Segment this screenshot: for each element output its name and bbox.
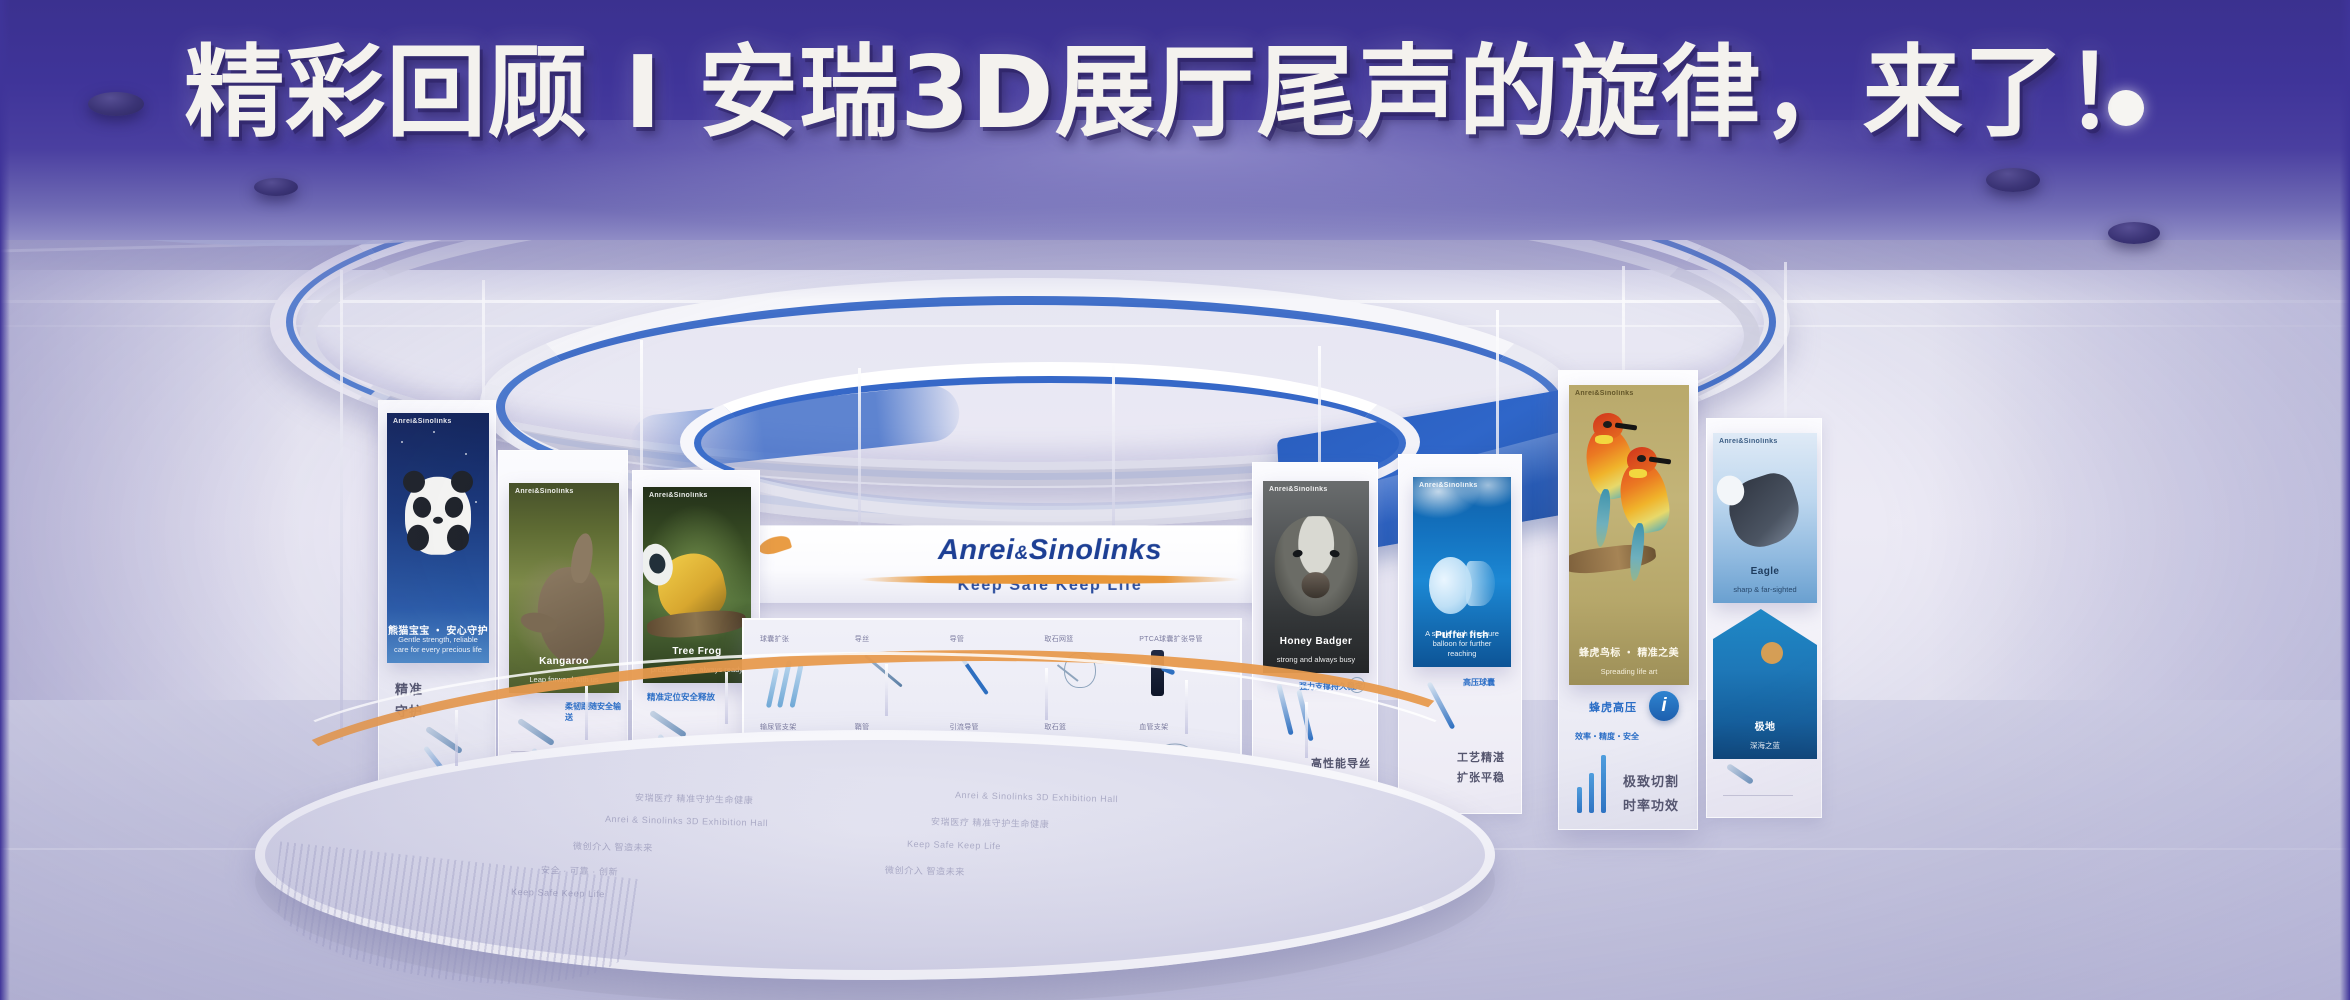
poster-title: Honey Badger xyxy=(1263,636,1369,647)
display-pillar-bee-eaters[interactable]: Anrei&Sinolinks 蜂虎鸟标 ・ 精准之美 Spreading li… xyxy=(1558,370,1698,830)
rail-post xyxy=(1185,680,1188,734)
ceiling-spot-light xyxy=(254,178,298,196)
branch-illustration xyxy=(646,608,747,640)
platform-white-rail xyxy=(245,652,1505,902)
panda-illustration xyxy=(405,477,471,555)
product-label: 导管 xyxy=(950,634,965,644)
caption-blue-label: 高压球囊 xyxy=(1463,677,1495,688)
mini-device-icon xyxy=(1726,763,1754,785)
poster-bee-eaters[interactable]: Anrei&Sinolinks 蜂虎鸟标 ・ 精准之美 Spreading li… xyxy=(1569,385,1689,685)
product-label: 球囊扩张 xyxy=(760,634,789,644)
water-surface-illustration xyxy=(1413,477,1511,530)
brand-name: Anrei&Sinolinks xyxy=(938,534,1162,567)
rail-post xyxy=(1045,668,1048,720)
brand-ampersand: & xyxy=(1014,543,1028,564)
poster-title: Eagle xyxy=(1713,566,1817,577)
caption-line-1: 极致切割 xyxy=(1623,771,1679,790)
poster-subtitle: Spreading life art xyxy=(1569,667,1689,677)
poster-eagle[interactable]: Anrei&Sinolinks Eagle sharp & far-sighte… xyxy=(1713,433,1817,603)
hanging-rod xyxy=(340,270,343,740)
poster-iceberg[interactable]: 极地 深海之蓝 xyxy=(1713,609,1817,759)
poster-brand-label: Anrei&Sinolinks xyxy=(1575,390,1634,397)
poster-subtitle: strong and always busy xyxy=(1263,655,1369,665)
poster-brand-label: Anrei&Sinolinks xyxy=(1269,486,1328,493)
poster-kangaroo[interactable]: Anrei&Sinolinks Kangaroo Leap forward wi… xyxy=(509,483,619,693)
poster-subtitle: Gentle strength, reliable care for every… xyxy=(387,635,489,655)
product-label: PTCA球囊扩张导管 xyxy=(1139,634,1203,644)
brand-swoosh-icon xyxy=(757,533,792,558)
right-edge-strip xyxy=(2340,0,2350,1000)
caption-blue-label: 蜂虎高压 xyxy=(1589,699,1637,715)
poster-brand-label: Anrei&Sinolinks xyxy=(393,418,452,425)
poster-honey-badger[interactable]: Anrei&Sinolinks Honey Badger strong and … xyxy=(1263,481,1369,673)
product-label: 取石网篮 xyxy=(1044,634,1073,644)
brand-underline-swoosh xyxy=(860,575,1241,584)
caption-divider xyxy=(1723,795,1793,796)
mini-bar-chart xyxy=(1577,743,1606,813)
poster-title: 蜂虎鸟标 ・ 精准之美 xyxy=(1569,644,1689,659)
eagle-illustration xyxy=(1721,468,1807,554)
poster-frog[interactable]: Anrei&Sinolinks Tree Frog precise, agile… xyxy=(643,487,751,683)
circular-platform: 安瑞医疗 精准守护生命健康 Anrei & Sinolinks 3D Exhib… xyxy=(255,730,1495,1000)
caption-line-2: 时率功效 xyxy=(1623,795,1679,814)
brand-name-part2: Sinolinks xyxy=(1029,534,1162,566)
puffer-tail-illustration xyxy=(1466,561,1495,607)
ceiling-spot-light xyxy=(1986,168,2040,192)
info-icon[interactable]: i xyxy=(1649,691,1679,721)
brand-name-part1: Anrei xyxy=(938,534,1015,566)
poster-brand-label: Anrei&Sinolinks xyxy=(649,492,708,499)
floor-text-line: 微创介入 智造未来 xyxy=(885,863,965,878)
poster-panda[interactable]: Anrei&Sinolinks 熊猫宝宝 ・ 安心守护 Gentle stren… xyxy=(387,413,489,663)
floor-text-line: 安全 · 可靠 · 创新 xyxy=(541,863,619,878)
rail-post xyxy=(1305,702,1308,758)
rail-post xyxy=(585,686,588,740)
exhibition-banner: Anrei&Sinolinks Keep Safe Keep Life Anre… xyxy=(0,0,2350,1000)
floor-text-line: 微创介入 智造未来 xyxy=(573,839,653,854)
left-edge-strip xyxy=(0,0,10,1000)
rail-post xyxy=(885,664,888,716)
page-title: 精彩回顾 I 安瑞3D展厅尾声的旋律，来了！ xyxy=(0,28,2350,158)
sun-icon xyxy=(1761,642,1783,664)
ceiling-spot-light xyxy=(2108,222,2160,244)
poster-subtitle: sharp & far-sighted xyxy=(1713,585,1817,595)
kangaroo-illustration xyxy=(534,565,607,666)
badger-illustration xyxy=(1275,516,1358,616)
display-board-eagle[interactable]: Anrei&Sinolinks Eagle sharp & far-sighte… xyxy=(1706,418,1822,818)
poster-brand-label: Anrei&Sinolinks xyxy=(515,488,574,495)
poster-brand-label: Anrei&Sinolinks xyxy=(1719,438,1778,445)
poster-subtitle: 深海之蓝 xyxy=(1713,741,1817,751)
poster-title: 极地 xyxy=(1713,718,1817,733)
rail-post xyxy=(725,672,728,724)
product-label: 导丝 xyxy=(855,634,870,644)
poster-puffer-fish[interactable]: Anrei&Sinolinks Puffer fish A single hig… xyxy=(1413,477,1511,667)
exhibition-hall-3d-scene: Anrei&Sinolinks Keep Safe Keep Life Anre… xyxy=(0,150,2350,1000)
rail-post xyxy=(455,710,458,766)
poster-subtitle: A single high pressure balloon for furth… xyxy=(1413,629,1511,659)
stat-label: 效率・精度・安全 xyxy=(1575,731,1639,742)
